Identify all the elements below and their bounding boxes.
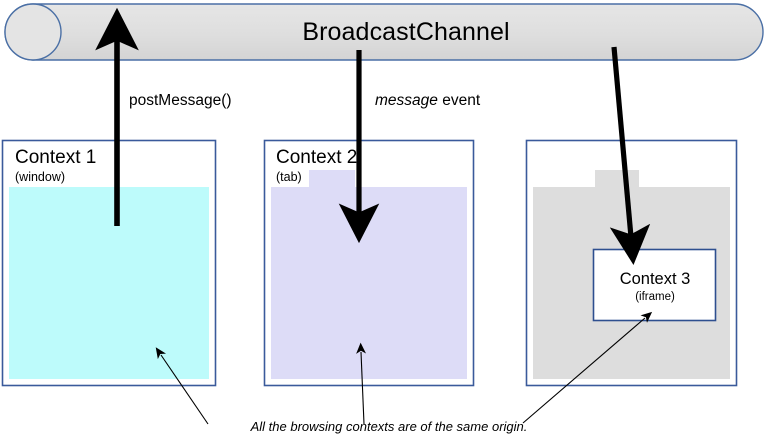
diagram-shapes (0, 0, 784, 448)
context-2-viewport (271, 187, 467, 379)
iframe-subtitle: (iframe) (635, 292, 675, 304)
diagram-canvas: BroadcastChannel postMessage() message e… (0, 0, 784, 448)
message-event-label-suffix: event (438, 92, 480, 109)
broadcast-channel-label: BroadcastChannel (302, 20, 509, 45)
message-event-label: message event (375, 93, 480, 109)
context-1-title: Context 1 (15, 148, 96, 167)
iframe-title: Context 3 (620, 271, 691, 288)
origin-caption: All the browsing contexts are of the sam… (251, 420, 528, 433)
context-2-subtitle: (tab) (276, 171, 302, 184)
context-2-title: Context 2 (276, 148, 357, 167)
context-3-tab-stub (595, 170, 639, 189)
cylinder-left-cap (5, 4, 61, 60)
context-2-tab-stub (309, 170, 355, 189)
context-1-viewport (9, 187, 209, 379)
context-3-outer-box (527, 141, 737, 386)
message-event-label-italic: message (375, 92, 438, 109)
context-1-subtitle: (window) (15, 171, 65, 184)
post-message-label: postMessage() (129, 93, 232, 109)
